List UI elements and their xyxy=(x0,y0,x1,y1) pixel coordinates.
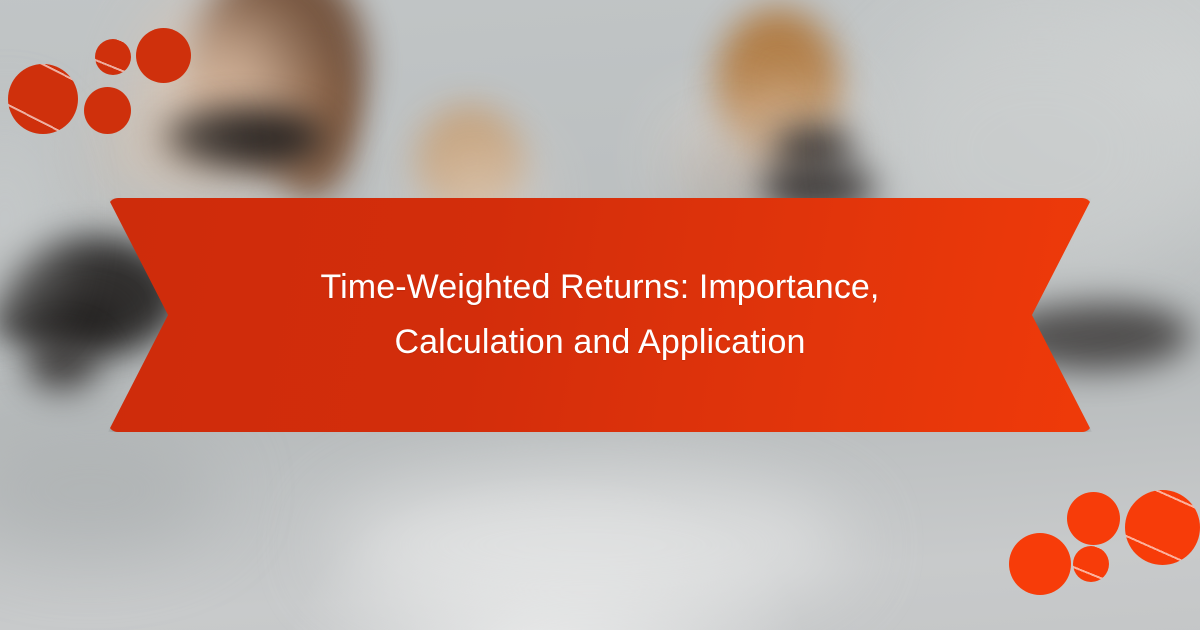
floor-highlight xyxy=(330,470,850,620)
striped-circle-large xyxy=(8,64,78,134)
figure-left-arm xyxy=(96,128,206,174)
social-share-card: Time-Weighted Returns: Importance, Calcu… xyxy=(0,0,1200,630)
page-title-line-1: Time-Weighted Returns: Importance, xyxy=(321,260,880,315)
striped-circle-small xyxy=(95,39,131,75)
plain-circle-medium xyxy=(1067,492,1120,545)
bike-left-pedal xyxy=(26,336,98,392)
plain-circle-medium xyxy=(84,87,131,134)
page-title-line-2: Calculation and Application xyxy=(395,315,806,370)
striped-circle-small xyxy=(1073,546,1109,582)
figure-right-knee xyxy=(704,156,764,204)
plain-circle-large xyxy=(1009,533,1071,595)
striped-circle-large xyxy=(1125,490,1200,565)
page-title: Time-Weighted Returns: Importance, Calcu… xyxy=(108,198,1092,432)
plain-circle-large xyxy=(136,28,191,83)
